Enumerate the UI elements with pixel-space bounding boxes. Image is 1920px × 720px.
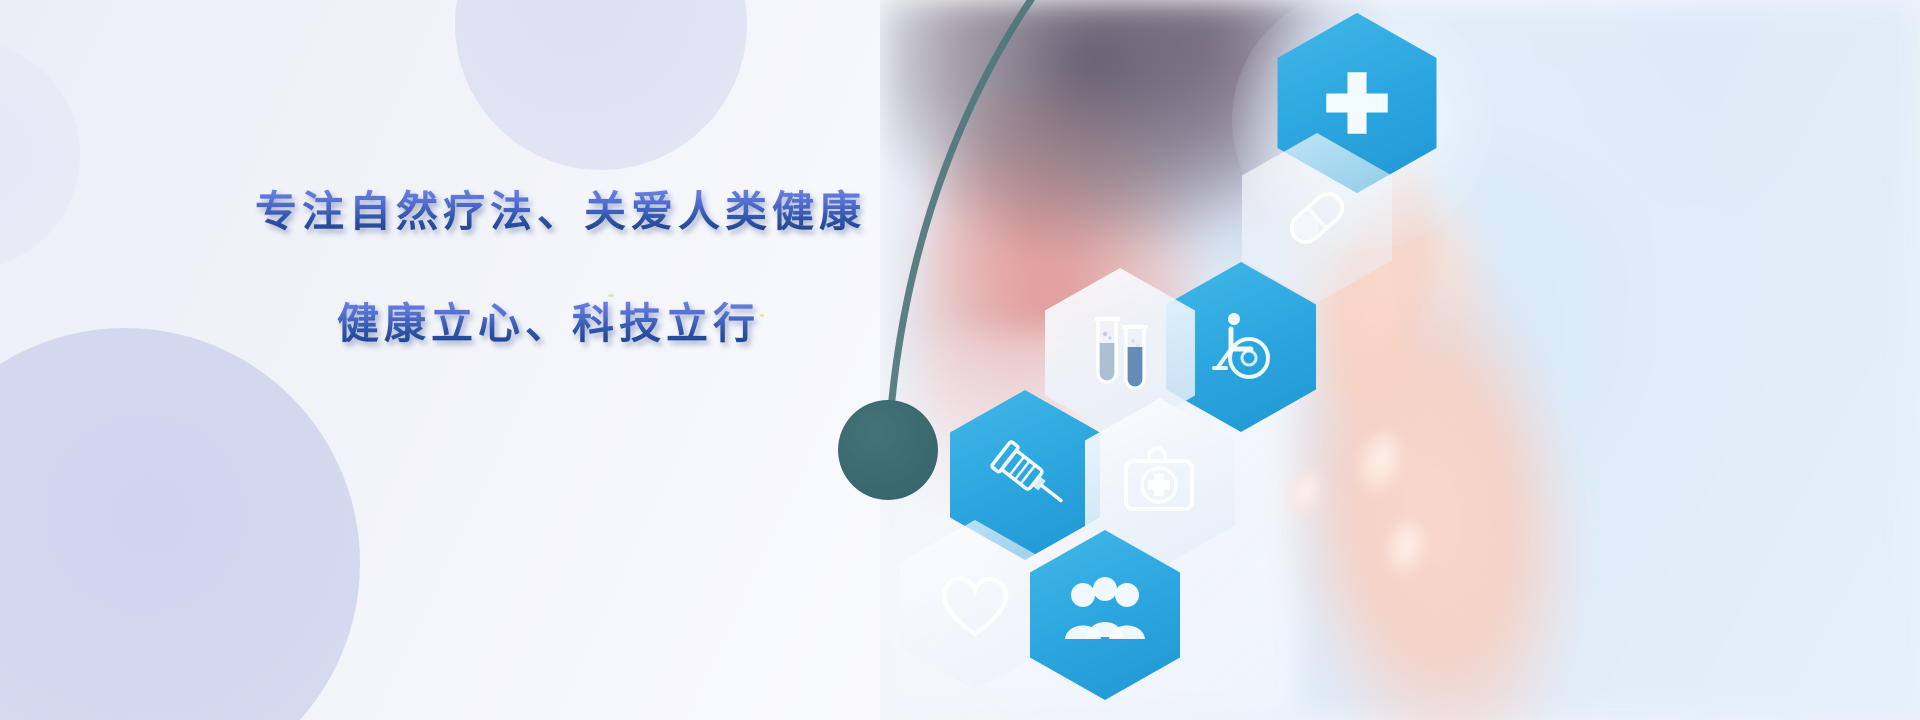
medical-bag-icon	[1116, 441, 1204, 525]
syringe-icon	[977, 427, 1073, 523]
capsule-pill-icon	[1274, 175, 1360, 261]
hexagon-icon-cluster	[880, 0, 1920, 720]
hero-banner: 专注自然疗法、关爱人类健康 健康立心、科技立行	[0, 0, 1920, 720]
medical-cross-icon	[1316, 62, 1399, 145]
decorative-blob-top	[455, 0, 747, 170]
headline-line-1: 专注自然疗法、关爱人类健康	[255, 186, 875, 238]
wheelchair-icon	[1200, 306, 1282, 388]
light-speck	[608, 294, 614, 297]
test-tubes-icon	[1078, 309, 1162, 397]
heart-icon	[933, 566, 1017, 644]
headline-line-2: 健康立心、科技立行	[337, 298, 875, 350]
decorative-blob-left	[0, 40, 80, 270]
family-people-icon	[1059, 575, 1151, 655]
light-speck	[760, 314, 764, 317]
decorative-blob-bottom	[0, 328, 360, 720]
headline-block: 专注自然疗法、关爱人类健康 健康立心、科技立行	[255, 186, 875, 350]
light-speck	[414, 207, 419, 210]
